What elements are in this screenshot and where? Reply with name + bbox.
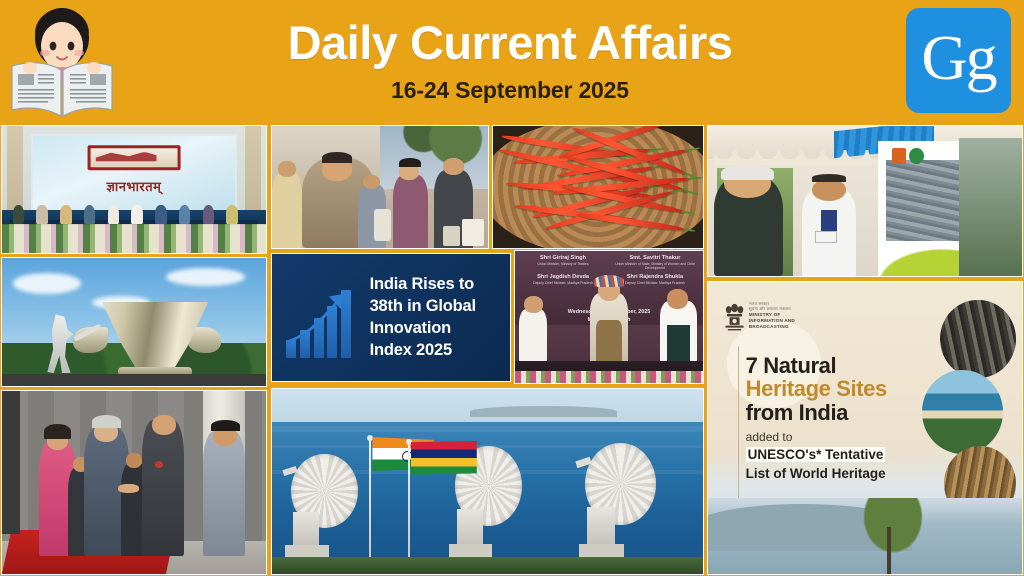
innovation-headline-line-1: India Rises to xyxy=(370,274,503,296)
innovation-headline-line-2: 38th in Global xyxy=(370,296,503,318)
ashoka-emblem-icon xyxy=(722,300,747,338)
image-collage: ज्ञानभारतम् xyxy=(0,122,1024,576)
girl-reading-newspaper-icon xyxy=(6,4,118,118)
poster-header: Daily Current Affairs 16-24 September 20… xyxy=(0,0,1024,122)
satellite-dish-left xyxy=(281,454,359,558)
innovation-bar-chart xyxy=(286,287,362,358)
backdrop-designation-4: Deputy Chief Minister, Madhya Pradesh xyxy=(613,281,698,285)
heritage-list-line-2: List of World Heritage xyxy=(746,466,928,481)
backdrop-designation-2: Union Minister of State, Ministry of Wom… xyxy=(613,262,698,271)
tile-unesco-heritage-sites: भारत सरकार सूचना और प्रसारण मंत्रालय MIN… xyxy=(707,281,1023,575)
innovation-headline: India Rises to 38th in Global Innovation… xyxy=(370,274,503,362)
tile-satellite-dishes-mauritius xyxy=(271,388,704,575)
heritage-photo-coastline xyxy=(922,370,1004,455)
page-date-range: 16-24 September 2025 xyxy=(391,77,629,104)
tile-diplomatic-handshake xyxy=(1,390,267,575)
ministry-hindi-2: सूचना और प्रसारण मंत्रालय xyxy=(749,306,862,311)
backdrop-designation-3: Deputy Chief Minister, Madhya Pradesh xyxy=(521,281,606,285)
innovation-headline-line-4: Index 2025 xyxy=(370,340,503,362)
heritage-line-2: Heritage Sites xyxy=(746,378,928,400)
backdrop-name-3: Shri Jagdish Devda xyxy=(521,274,606,281)
backdrop-name-1: Shri Giriraj Singh xyxy=(521,255,606,262)
heritage-line-3: from India xyxy=(746,402,928,424)
brand-logo-text: Gg xyxy=(921,32,995,89)
conference-screen: ज्ञानभारतम् xyxy=(31,134,237,213)
innovation-headline-line-3: Innovation xyxy=(370,318,503,340)
gyan-bharatam-logo-text: ज्ञानभारतम् xyxy=(107,177,162,195)
tile-red-chillies xyxy=(492,125,704,249)
satellite-dish-right xyxy=(574,443,656,558)
heritage-photo-rockface xyxy=(940,300,1015,379)
tile-gyan-bharatam: ज्ञानभारतम् xyxy=(1,125,267,254)
tile-cricket-trophy-monument xyxy=(1,257,267,387)
flagpole-india xyxy=(369,439,371,557)
backdrop-name-2: Smt. Savitri Thakur xyxy=(613,255,698,262)
heritage-headline: 7 Natural Heritage Sites from India adde… xyxy=(746,355,928,481)
ministry-label: भारत सरकार सूचना और प्रसारण मंत्रालय MIN… xyxy=(749,301,862,330)
daily-current-affairs-poster: Daily Current Affairs 16-24 September 20… xyxy=(0,0,1024,576)
tile-global-innovation-index: India Rises to 38th in Global Innovation… xyxy=(271,253,511,382)
heritage-added-to: added to xyxy=(746,430,928,444)
backdrop-name-4: Shri Rajendra Shukla xyxy=(613,274,698,281)
flagpole-mauritius xyxy=(408,443,410,558)
backdrop-designation-1: Union Minister, Ministry of Textiles xyxy=(521,262,606,266)
heritage-line-1: 7 Natural xyxy=(746,355,928,377)
tile-minister-stall-visit xyxy=(271,125,489,249)
traditional-headgear xyxy=(594,275,624,287)
page-title: Daily Current Affairs xyxy=(288,18,733,67)
mauritius-flag-icon xyxy=(411,441,477,475)
brand-logo: Gg xyxy=(906,8,1011,113)
heritage-list-line-1: UNESCO's* Tentative xyxy=(746,447,886,462)
header-title-block: Daily Current Affairs 16-24 September 20… xyxy=(130,0,890,122)
ministry-line-3: BROADCASTING xyxy=(749,324,862,330)
tile-pm-industrial-expo xyxy=(707,125,1023,277)
tile-pm-madhya-pradesh-stage: Shri Giriraj Singh Union Minister, Minis… xyxy=(514,250,704,384)
